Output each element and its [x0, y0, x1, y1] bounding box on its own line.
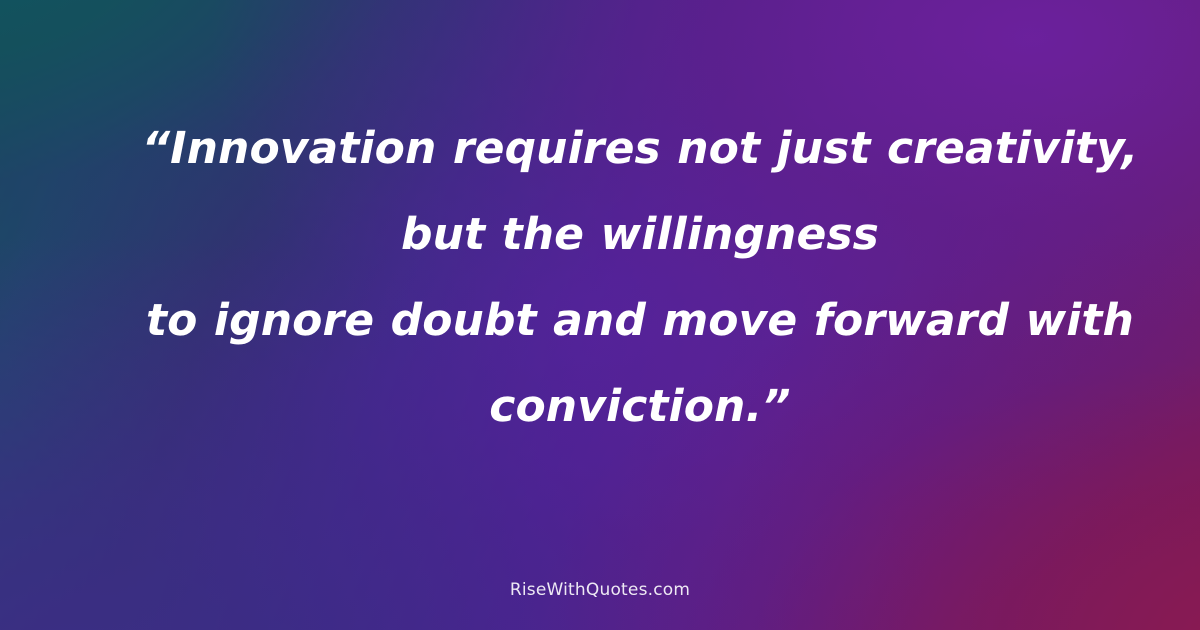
- quote-card: “Innovation requires not just creativity…: [0, 0, 1200, 630]
- quote-line-2: to ignore doubt and move forward with co…: [146, 295, 1134, 432]
- quote-text: “Innovation requires not just creativity…: [110, 106, 1170, 450]
- quote-block: “Innovation requires not just creativity…: [110, 106, 1170, 450]
- footer-bar: RiseWithQuotes.com: [0, 580, 1200, 600]
- quote-line-1: “Innovation requires not just creativity…: [142, 123, 1139, 260]
- site-credit-label: RiseWithQuotes.com: [510, 580, 690, 600]
- card-content: “Innovation requires not just creativity…: [0, 0, 1200, 630]
